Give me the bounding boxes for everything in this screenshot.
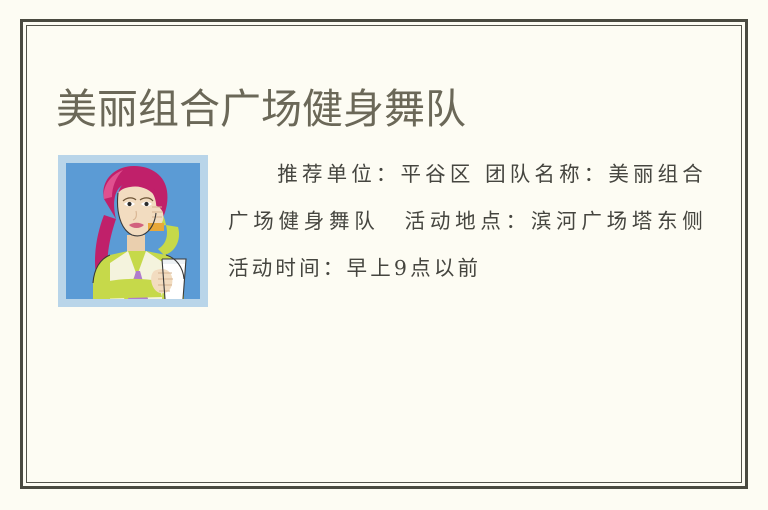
poster-page: 美丽组合广场健身舞队 [0, 0, 768, 510]
woman-clipart-svg [66, 163, 200, 299]
content-area: 美丽组合广场健身舞队 [26, 25, 742, 483]
illustration-woman-with-drink [58, 155, 208, 307]
page-title: 美丽组合广场健身舞队 [56, 86, 466, 133]
article-body: 推荐单位：平谷区 团队名称：美丽组合广场健身舞队 活动地点：滨河广场塔东侧 活动… [56, 151, 706, 313]
illustration-canvas [66, 163, 200, 299]
